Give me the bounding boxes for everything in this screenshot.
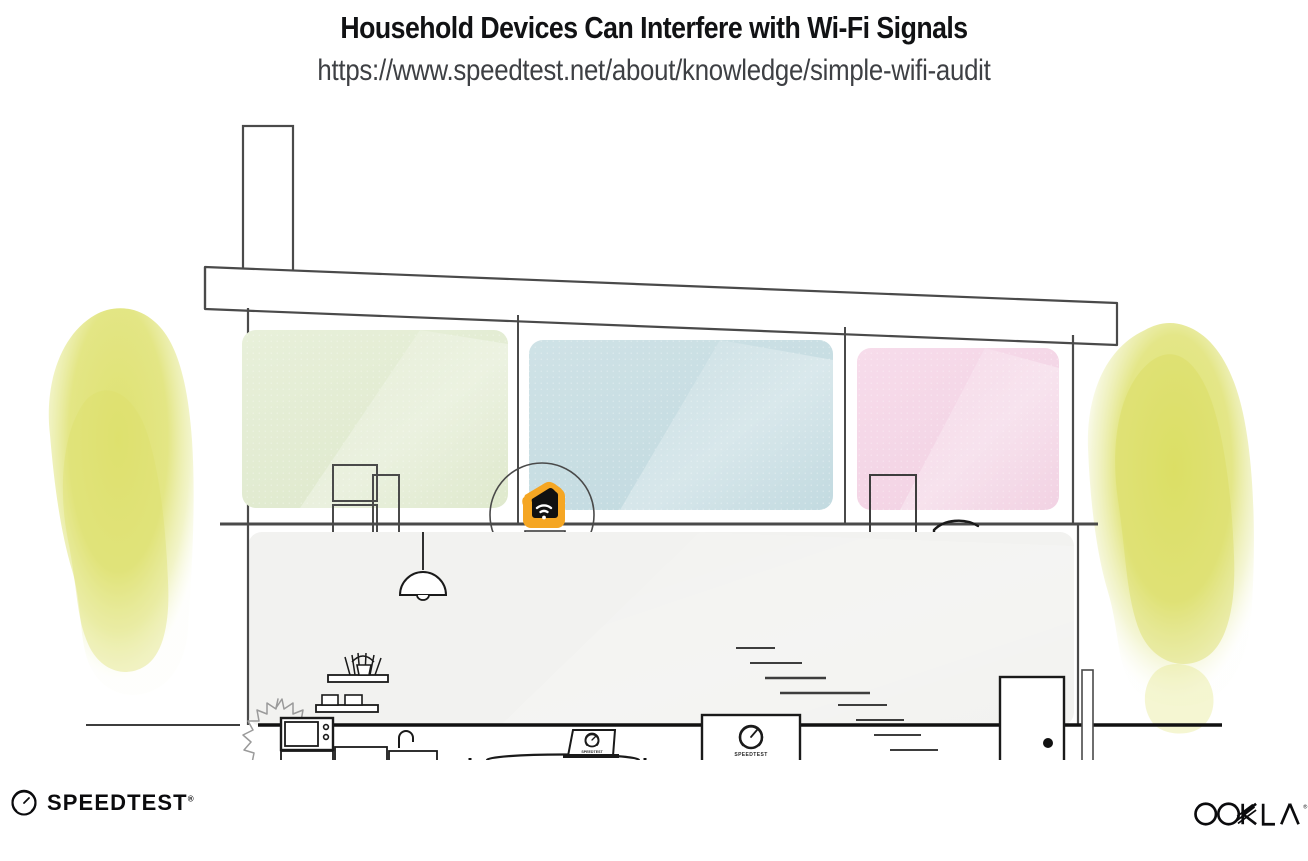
sink-faucet-icon (399, 731, 413, 748)
svg-text:®: ® (1303, 803, 1307, 810)
lower-floor: SPEEDTEST (86, 525, 1222, 760)
speedometer-icon (10, 789, 38, 817)
header: Household Devices Can Interfere with Wi-… (0, 0, 1308, 88)
page-title: Household Devices Can Interfere with Wi-… (92, 0, 1217, 46)
screen-logo-text: SPEEDTEST (581, 750, 603, 754)
house-cutaway-illustration: SPEEDTEST (0, 100, 1308, 760)
microwave-icon[interactable] (281, 718, 333, 750)
speedtest-logo[interactable]: SPEEDTEST® (10, 789, 194, 817)
shelf-upper (328, 675, 388, 682)
shelf-lower (316, 705, 378, 712)
dining-table: SPEEDTEST (487, 730, 639, 760)
chimney (243, 126, 293, 275)
roof-assembly (205, 126, 1117, 345)
foliage-left (49, 308, 194, 695)
speedtest-wordmark: SPEEDTEST® (47, 790, 194, 816)
bowl-1 (322, 695, 338, 705)
door-knob-icon[interactable] (1043, 738, 1053, 748)
page-subtitle-url: https://www.speedtest.net/about/knowledg… (92, 46, 1217, 88)
ookla-wordmark-icon: ® (1190, 793, 1308, 835)
speedtest-wordmark-text: SPEEDTEST (47, 790, 188, 815)
wifi-router-icon[interactable] (522, 482, 565, 528)
foliage-right (1088, 323, 1254, 734)
speedtest-trademark: ® (188, 795, 194, 804)
television-icon[interactable]: SPEEDTEST (702, 715, 800, 760)
exterior-column-right (1082, 670, 1093, 760)
ookla-logo[interactable]: ® OOKLA (1190, 793, 1308, 835)
bowl-2 (345, 695, 362, 705)
screen-logo-text: SPEEDTEST (734, 752, 767, 758)
footer: SPEEDTEST® ® OOKLA (0, 771, 1308, 861)
page-root: Household Devices Can Interfere with Wi-… (0, 0, 1308, 861)
laptop-icon[interactable]: SPEEDTEST (563, 730, 619, 758)
